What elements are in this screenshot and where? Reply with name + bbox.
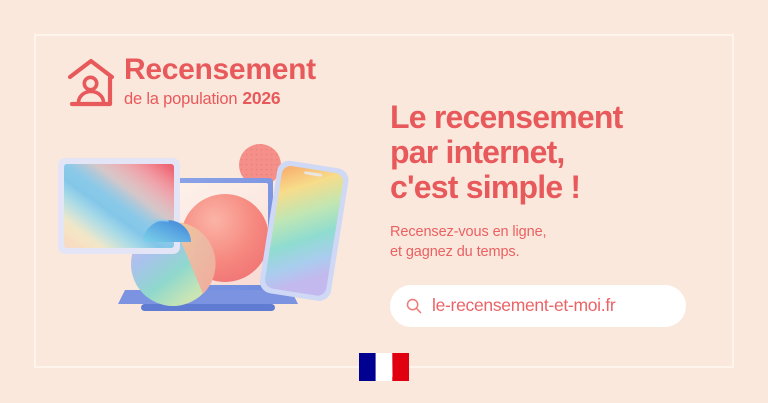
logo-subtitle: de la population [124,90,237,109]
website-url-pill[interactable]: le-recensement-et-moi.fr [390,285,686,327]
message-column: Le recensement par internet, c'est simpl… [390,100,700,327]
french-republic-flag [359,353,409,381]
website-url-text: le-recensement-et-moi.fr [432,295,615,316]
poster-root: Recensement de la population 2026 [0,0,768,403]
page-title: Le recensement par internet, c'est simpl… [390,100,700,206]
logo-year: 2026 [242,88,280,109]
recensement-logo: Recensement de la population 2026 [66,55,316,109]
logo-wordmark: Recensement de la population 2026 [124,55,316,109]
devices-illustration [55,138,355,323]
logo-subline: de la population 2026 [124,88,316,109]
house-with-person-icon [66,57,116,109]
subtitle: Recensez-vous en ligne, et gagnez du tem… [390,222,700,263]
logo-title: Recensement [124,55,316,86]
search-icon [406,298,422,314]
